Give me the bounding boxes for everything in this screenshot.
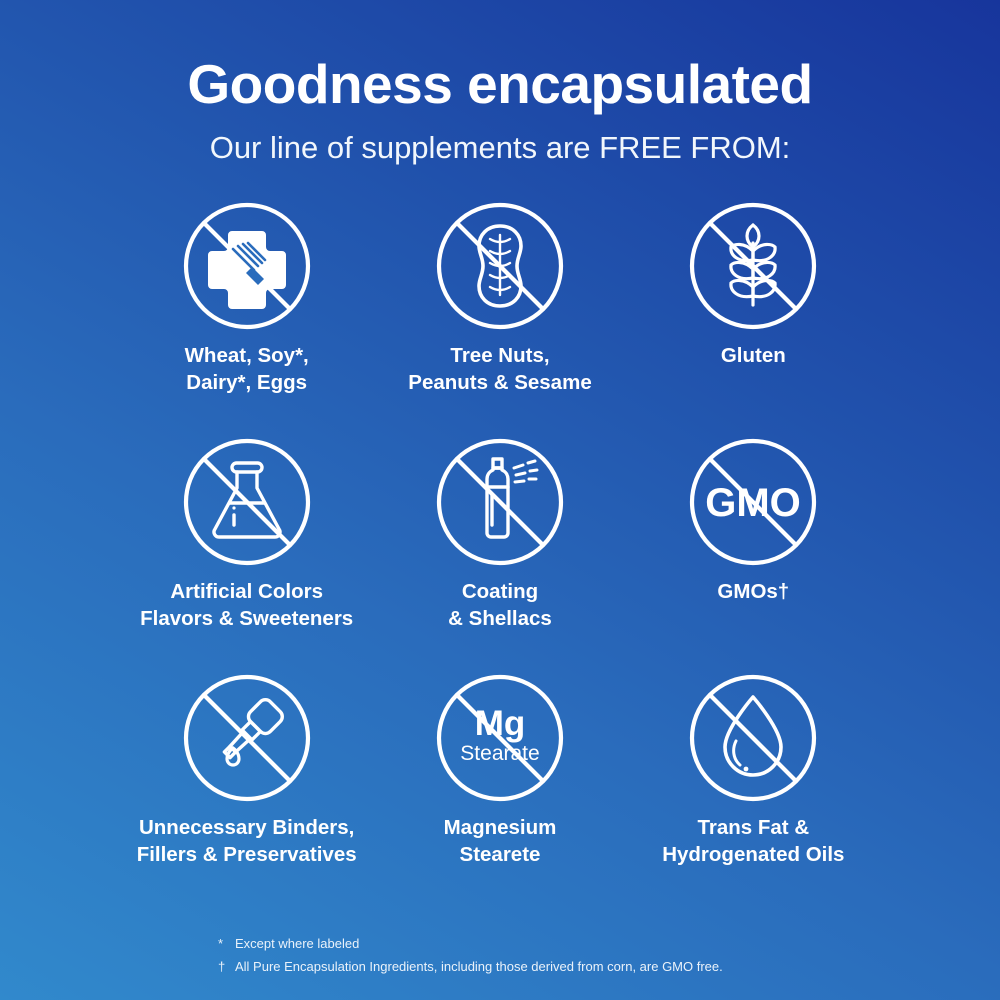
page-title: Goodness encapsulated [0,56,1000,114]
no-spray-can-icon [435,437,565,567]
footnote-text: All Pure Encapsulation Ingredients, incl… [235,956,723,978]
no-gmo-icon: GMO [688,437,818,567]
footnote-mark: * [218,933,235,955]
poster-header: Goodness encapsulated Our line of supple… [0,0,1000,165]
mg-inner-text: Mg [475,704,526,743]
no-cross-fork-icon [182,201,312,331]
no-flask-icon [182,437,312,567]
grid-item-label: Unnecessary Binders, Fillers & Preservat… [137,814,357,869]
grid-item-label: Trans Fat & Hydrogenated Oils [662,814,844,869]
footnotes: * Except where labeled † All Pure Encaps… [218,933,723,978]
grid-item-gluten: Gluten [627,201,880,431]
grid-item-gmo: GMO GMOs† [627,437,880,667]
gmo-inner-text: GMO [706,481,802,525]
footnote-text: Except where labeled [235,933,359,955]
free-from-grid: Wheat, Soy*, Dairy*, Eggs [0,201,1000,903]
grid-item-nuts: Tree Nuts, Peanuts & Sesame [373,201,626,431]
grid-item-coating: Coating & Shellacs [373,437,626,667]
footnote-dagger: † All Pure Encapsulation Ingredients, in… [218,956,723,978]
grid-item-label: Wheat, Soy*, Dairy*, Eggs [185,342,309,397]
grid-item-label: GMOs† [717,578,789,605]
grid-item-label: Tree Nuts, Peanuts & Sesame [408,342,591,397]
grid-item-trans-fat: Trans Fat & Hydrogenated Oils [627,673,880,903]
stearate-inner-text: Stearate [460,742,539,765]
grid-item-allergens: Wheat, Soy*, Dairy*, Eggs [120,201,373,431]
grid-item-label: Gluten [721,342,786,369]
poster: Goodness encapsulated Our line of supple… [0,0,1000,1000]
no-wheat-stalk-icon [688,201,818,331]
grid-item-label: Coating & Shellacs [448,578,552,633]
no-peanut-icon [435,201,565,331]
footnote-mark: † [218,956,235,978]
no-dropper-icon [182,673,312,803]
grid-item-magnesium-stearate: Mg Stearate Magnesium Stearete [373,673,626,903]
no-oil-droplet-icon [688,673,818,803]
grid-item-binders: Unnecessary Binders, Fillers & Preservat… [120,673,373,903]
no-mg-stearate-icon: Mg Stearate [435,673,565,803]
page-subtitle: Our line of supplements are FREE FROM: [0,131,1000,165]
grid-item-artificial-colors: Artificial Colors Flavors & Sweeteners [120,437,373,667]
grid-item-label: Magnesium Stearete [444,814,557,869]
footnote-asterisk: * Except where labeled [218,933,723,955]
grid-item-label: Artificial Colors Flavors & Sweeteners [140,578,353,633]
